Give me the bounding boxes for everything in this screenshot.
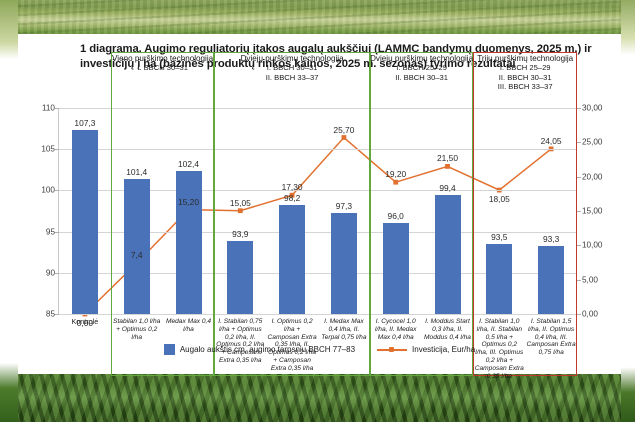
investment-value-label: 21,50 xyxy=(437,153,458,163)
x-axis-category-label: Stabilan 1,0 l/ha + Optimus 0,2 l/ha xyxy=(112,318,162,341)
y-axis-tick-label: 100 xyxy=(41,186,55,195)
bar-value-label: 93,9 xyxy=(232,229,248,239)
treatment-group-stage: I. BBCH 30–31 xyxy=(111,63,215,72)
y-axis-tick-mark xyxy=(55,149,59,150)
treatment-group-title: Trijų purškimų technologija xyxy=(473,54,577,63)
investment-value-label: 15,05 xyxy=(230,198,251,208)
investment-value-label: 15,20 xyxy=(178,197,199,207)
treatment-group-stage: II. BBCH 30–31 xyxy=(473,73,577,82)
treatment-group-stage: III. BBCH 33–37 xyxy=(473,82,577,91)
investment-value-label: 24,05 xyxy=(541,136,562,146)
y-axis-tick-label: 90 xyxy=(46,268,55,277)
background-field-photo-right xyxy=(621,0,635,422)
treatment-group-header-1: Vieno purškimo technologijaI. BBCH 30–31 xyxy=(111,52,215,73)
bar-value-label: 102,4 xyxy=(178,159,199,169)
treatment-group-title: Dviejų purškimų technologija xyxy=(214,54,369,63)
chart-card: 1 diagrama. Augimo reguliatorių įtakos a… xyxy=(18,34,621,374)
y2-axis-tick-label: 10,00 xyxy=(582,241,603,250)
bar xyxy=(331,213,357,314)
line-swatch-icon xyxy=(377,345,407,354)
y2-axis-tick-label: 20,00 xyxy=(582,172,603,181)
y-axis-tick-label: 85 xyxy=(46,310,55,319)
investment-value-label: 17,30 xyxy=(282,182,303,192)
y-axis-tick-mark xyxy=(55,314,59,315)
treatment-group-stage: II. BBCH 30–31 xyxy=(370,73,474,82)
y2-axis-tick-mark xyxy=(577,314,581,315)
treatment-group-stage: I. BBCH 25–29 xyxy=(473,63,577,72)
plot-area: 11010510095908530,0025,0020,0015,0010,00… xyxy=(59,108,577,314)
investment-value-label: 18,05 xyxy=(489,194,510,204)
legend-label-bars: Augalo aukštis cm, augimo tarpsniu BBCH … xyxy=(180,345,355,354)
bar-value-label: 107,3 xyxy=(74,118,95,128)
y2-axis-tick-label: 15,00 xyxy=(582,207,603,216)
treatment-group-stage: I. BBCH 30–31 xyxy=(214,63,369,72)
bar xyxy=(227,241,253,314)
treatment-group-title: Vieno purškimo technologija xyxy=(111,54,215,63)
y2-axis-tick-label: 0,00 xyxy=(582,310,598,319)
background-field-photo-bottom xyxy=(0,372,635,422)
chart-legend: Augalo aukštis cm, augimo tarpsniu BBCH … xyxy=(18,344,621,355)
bar xyxy=(279,205,305,314)
y2-axis-tick-mark xyxy=(577,280,581,281)
y2-axis-tick-label: 30,00 xyxy=(582,104,603,113)
bar-value-label: 96,0 xyxy=(388,211,404,221)
treatment-group-stage: I. BBCH 25–29 xyxy=(370,63,474,72)
y2-axis-tick-mark xyxy=(577,211,581,212)
investment-value-label: 25,70 xyxy=(333,125,354,135)
legend-label-line: Investicija, Eur/ha xyxy=(412,345,475,354)
bar-value-label: 93,5 xyxy=(491,232,507,242)
y-axis-tick-mark xyxy=(55,190,59,191)
legend-item-bars: Augalo aukštis cm, augimo tarpsniu BBCH … xyxy=(164,344,355,355)
background-field-photo-top xyxy=(0,0,635,38)
bar xyxy=(486,244,512,314)
treatment-group-header-2: Dviejų purškimų technologijaI. BBCH 30–3… xyxy=(214,52,369,82)
bar-swatch-icon xyxy=(164,344,175,355)
bar-value-label: 93,3 xyxy=(543,234,559,244)
bar-value-label: 97,3 xyxy=(336,201,352,211)
y2-axis-tick-mark xyxy=(577,108,581,109)
investment-value-label: 7,4 xyxy=(131,250,143,260)
y-axis-tick-mark xyxy=(55,232,59,233)
y2-axis-tick-label: 5,00 xyxy=(582,275,598,284)
bar-value-label: 98,2 xyxy=(284,193,300,203)
bar xyxy=(124,179,150,314)
y-axis-tick-mark xyxy=(55,273,59,274)
bar-value-label: 99,4 xyxy=(439,183,455,193)
treatment-group-header-4: Trijų purškimų technologijaI. BBCH 25–29… xyxy=(473,52,577,92)
treatment-group-header-3: Dviejų purškimų technologijaI. BBCH 25–2… xyxy=(370,52,474,82)
y2-axis-tick-label: 25,00 xyxy=(582,138,603,147)
y2-axis-tick-mark xyxy=(577,177,581,178)
investment-value-label: 0,00 xyxy=(77,318,93,328)
y-axis-tick-mark xyxy=(55,108,59,109)
treatment-group-stage: II. BBCH 33–37 xyxy=(214,73,369,82)
screenshot-root: 1 diagrama. Augimo reguliatorių įtakos a… xyxy=(0,0,635,422)
bar-value-label: 101,4 xyxy=(126,167,147,177)
background-field-photo-left xyxy=(0,0,18,422)
y2-axis-tick-mark xyxy=(577,142,581,143)
bar xyxy=(72,130,98,314)
y-axis-tick-label: 95 xyxy=(46,227,55,236)
legend-item-line: Investicija, Eur/ha xyxy=(377,345,475,354)
x-axis-category-label: Medax Max 0,4 l/ha xyxy=(164,318,214,334)
y2-axis-tick-mark xyxy=(577,245,581,246)
bar xyxy=(176,171,202,314)
y-axis-tick-label: 105 xyxy=(41,145,55,154)
treatment-group-title: Dviejų purškimų technologija xyxy=(370,54,474,63)
x-axis-category-label: I. Cycocel 1,0 l/ha, II. Medax Max 0,4 l… xyxy=(371,318,421,341)
x-axis-category-label: I. Moddus Start 0,3 l/ha, II. Moddus 0,4… xyxy=(423,318,473,341)
bar xyxy=(383,223,409,314)
investment-value-label: 19,20 xyxy=(385,169,406,179)
bar xyxy=(435,195,461,314)
x-axis-category-label: I. Medax Max 0,4 l/ha, II. Terpal 0,75 l… xyxy=(319,318,369,341)
y-axis-tick-label: 110 xyxy=(42,104,55,113)
bar xyxy=(538,246,564,314)
x-axis-category-label: I. Stabilan 0,75 l/ha + Optimus 0,2 l/ha… xyxy=(215,318,265,365)
